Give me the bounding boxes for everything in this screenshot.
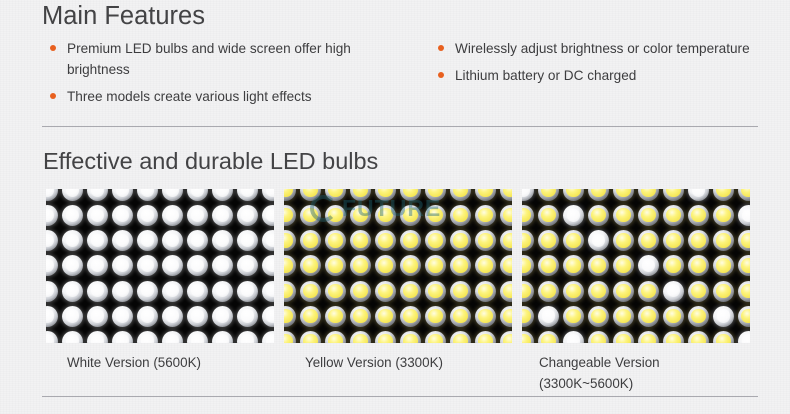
led-bulb-emitter [350,331,371,343]
led-bulb-emitter [87,255,108,276]
led-bulb [135,279,160,304]
led-bulb-emitter [538,189,559,201]
led-bulb [135,304,160,329]
led-bulb [586,228,611,253]
led-bulb [398,189,423,203]
led-bulb [561,304,586,329]
led-bulb-emitter [162,306,183,327]
led-bulb-emitter [538,230,559,251]
led-bulb-emitter [450,306,471,327]
led-bulb [586,279,611,304]
led-bulb [522,189,536,203]
led-bulb [85,189,110,203]
led-bulb [60,279,85,304]
led-bulb-emitter [87,331,108,343]
led-bulb-emitter [284,189,296,201]
led-bulb [284,253,298,278]
led-bulb [473,304,498,329]
led-bulb [284,189,298,203]
led-grid [522,189,750,343]
led-bulb-emitter [46,281,58,302]
led-bulb [498,304,512,329]
led-bulb-emitter [663,331,684,343]
led-bulb-emitter [638,281,659,302]
led-bulb [586,329,611,343]
led-bulb-emitter [638,205,659,226]
led-bulb-emitter [237,255,258,276]
led-bulb-emitter [713,230,734,251]
led-bulb-emitter [500,331,512,343]
led-bulb-emitter [375,189,396,201]
led-bulb [736,279,750,304]
led-bulb-emitter [87,306,108,327]
led-bulb-emitter [588,306,609,327]
led-bulb [373,189,398,203]
led-bulb-emitter [300,255,321,276]
led-bulb [736,189,750,203]
led-bulb-emitter [284,255,296,276]
led-bulb [423,228,448,253]
led-bulb-emitter [237,281,258,302]
led-bulb [636,253,661,278]
led-panel-captions: White Version (5600K) Yellow Version (33… [46,352,751,394]
led-bulb [260,304,274,329]
led-bulb [135,253,160,278]
led-bulb [46,279,60,304]
led-bulb-emitter [300,205,321,226]
led-bulb-emitter [137,306,158,327]
led-bulb [536,228,561,253]
list-item: Premium LED bulbs and wide screen offer … [50,38,385,80]
led-bulb-emitter [738,230,750,251]
led-bulb [473,189,498,203]
led-bulb-emitter [738,205,750,226]
led-bulb-emitter [325,306,346,327]
led-bulb [736,203,750,228]
led-bulb-emitter [375,281,396,302]
led-bulb-emitter [162,281,183,302]
led-bulb [473,203,498,228]
led-bulb-emitter [663,255,684,276]
led-bulb [284,329,298,343]
led-bulb-emitter [237,306,258,327]
led-bulb-emitter [212,255,233,276]
led-bulb-emitter [46,255,58,276]
led-bulb-emitter [400,230,421,251]
led-bulb-emitter [688,230,709,251]
led-bulb-emitter [475,281,496,302]
led-bulb [348,203,373,228]
bullet-dot-icon [50,93,56,99]
led-bulb-emitter [613,230,634,251]
led-bulb [398,329,423,343]
led-bulb-emitter [663,306,684,327]
led-bulb [711,189,736,203]
led-bulb [611,253,636,278]
led-bulb-emitter [46,189,58,201]
led-bulb-emitter [522,255,534,276]
led-bulb-emitter [538,331,559,343]
led-bulb [636,279,661,304]
caption-yellow-version: Yellow Version (3300K) [284,352,512,394]
led-bulb [661,279,686,304]
led-bulb [60,228,85,253]
led-bulb [448,253,473,278]
led-bulb-emitter [325,205,346,226]
led-bulb [85,253,110,278]
led-bulb-emitter [588,189,609,201]
led-bulb-emitter [500,205,512,226]
led-bulb [661,304,686,329]
led-bulb-emitter [350,230,371,251]
led-bulb-emitter [162,230,183,251]
led-bulb [46,304,60,329]
led-bulb [323,304,348,329]
led-bulb-emitter [638,331,659,343]
section-divider-top [42,126,758,127]
led-panel-changeable [522,189,750,343]
led-bulb [611,329,636,343]
led-bulb-emitter [713,306,734,327]
led-bulb [586,189,611,203]
led-bulb-emitter [325,281,346,302]
led-bulb-emitter [638,189,659,201]
led-bulb [323,279,348,304]
led-bulb-emitter [237,205,258,226]
led-bulb [473,228,498,253]
led-bulb-emitter [375,230,396,251]
led-bulb-emitter [137,189,158,201]
led-bulb [298,304,323,329]
features-bullet-columns: Premium LED bulbs and wide screen offer … [0,38,790,113]
led-bulb-emitter [638,255,659,276]
led-bulb [473,329,498,343]
led-bulb-emitter [450,281,471,302]
led-bulb-emitter [500,230,512,251]
led-bulb-emitter [187,205,208,226]
led-bulb-emitter [500,306,512,327]
led-bulb [448,203,473,228]
led-bulb [636,304,661,329]
led-bulb-emitter [475,189,496,201]
led-bulb-emitter [162,189,183,201]
led-bulb [398,304,423,329]
led-bulb-emitter [350,189,371,201]
led-bulb-emitter [425,306,446,327]
led-bulb-emitter [613,189,634,201]
led-bulb [736,228,750,253]
led-bulb [210,203,235,228]
led-bulb [46,329,60,343]
led-bulb [235,304,260,329]
led-bulb-emitter [87,189,108,201]
led-bulb-emitter [538,205,559,226]
led-bulb-emitter [300,331,321,343]
led-bulb-emitter [400,281,421,302]
led-bulb-emitter [137,230,158,251]
led-bulb [60,189,85,203]
led-bulb-emitter [400,306,421,327]
led-bulb [636,189,661,203]
led-bulb [210,279,235,304]
led-bulb-emitter [688,255,709,276]
led-bulb-emitter [46,306,58,327]
led-bulb [373,304,398,329]
led-bulb [185,253,210,278]
led-bulb [736,253,750,278]
led-bulb [185,279,210,304]
led-bulb-emitter [212,205,233,226]
led-bulb [498,329,512,343]
led-bulb-emitter [425,189,446,201]
led-bulb [323,329,348,343]
led-bulb-emitter [212,331,233,343]
led-bulb [284,279,298,304]
led-bulb [498,253,512,278]
bullet-dot-icon [50,45,56,51]
led-bulb [160,203,185,228]
led-bulb [373,228,398,253]
led-bulb-emitter [450,189,471,201]
section-divider-bottom [42,396,758,397]
led-bulb [160,189,185,203]
led-bulb-emitter [563,255,584,276]
led-bulb-emitter [237,331,258,343]
led-bulb-emitter [613,306,634,327]
led-bulb-emitter [112,230,133,251]
led-bulb-emitter [688,306,709,327]
bullet-dot-icon [438,45,444,51]
led-bulb [448,329,473,343]
led-bulb [235,189,260,203]
led-bulb-emitter [688,205,709,226]
section-title: Effective and durable LED bulbs [43,148,378,175]
led-bulb-emitter [262,331,274,343]
led-bulb [448,279,473,304]
led-bulb [160,304,185,329]
caption-white-version: White Version (5600K) [46,352,274,394]
led-bulb [110,304,135,329]
led-bulb [711,203,736,228]
led-bulb-emitter [375,205,396,226]
led-bulb [46,203,60,228]
features-left-column: Premium LED bulbs and wide screen offer … [0,38,385,113]
led-bulb [348,304,373,329]
led-bulb [661,253,686,278]
led-bulb [398,228,423,253]
feature-text: Lithium battery or DC charged [455,65,636,86]
led-bulb-emitter [325,230,346,251]
led-bulb [661,329,686,343]
led-bulb-emitter [663,281,684,302]
led-bulb-emitter [187,306,208,327]
led-bulb [561,329,586,343]
page-title: Main Features [42,2,205,31]
led-bulb-emitter [212,281,233,302]
led-bulb [561,189,586,203]
led-bulb [110,253,135,278]
led-bulb [298,228,323,253]
led-panel-white [46,189,274,343]
led-bulb-emitter [425,255,446,276]
led-bulb-emitter [450,331,471,343]
led-bulb [235,329,260,343]
feature-text: Premium LED bulbs and wide screen offer … [67,38,385,80]
led-bulb [561,279,586,304]
led-bulb-emitter [350,255,371,276]
led-bulb [373,203,398,228]
led-bulb-emitter [162,331,183,343]
led-bulb-emitter [137,205,158,226]
led-bulb-emitter [563,331,584,343]
led-bulb [536,189,561,203]
led-bulb-emitter [522,331,534,343]
led-bulb [522,279,536,304]
led-bulb-emitter [262,230,274,251]
led-bulb [235,279,260,304]
led-bulb-emitter [350,281,371,302]
led-bulb-emitter [563,306,584,327]
led-bulb [235,228,260,253]
led-bulb-emitter [588,205,609,226]
bullet-dot-icon [438,72,444,78]
led-bulb [536,203,561,228]
led-bulb [398,279,423,304]
led-bulb [323,228,348,253]
led-bulb-emitter [738,255,750,276]
led-bulb [210,304,235,329]
led-bulb [686,203,711,228]
led-bulb-emitter [300,230,321,251]
led-bulb-emitter [563,189,584,201]
led-bulb-emitter [112,189,133,201]
led-bulb-emitter [522,230,534,251]
list-item: Wirelessly adjust brightness or color te… [438,38,790,59]
led-bulb-emitter [284,306,296,327]
led-bulb-emitter [350,205,371,226]
led-bulb-emitter [162,205,183,226]
led-bulb [235,253,260,278]
list-item: Three models create various light effect… [50,86,385,107]
led-bulb [110,189,135,203]
led-bulb-emitter [522,281,534,302]
led-bulb-emitter [425,281,446,302]
led-bulb-emitter [738,331,750,343]
led-bulb [110,228,135,253]
led-bulb [135,329,160,343]
led-bulb [736,329,750,343]
led-bulb [135,189,160,203]
led-bulb [85,304,110,329]
led-bulb-emitter [284,281,296,302]
led-bulb-emitter [738,306,750,327]
led-bulb [561,253,586,278]
led-bulb-emitter [46,205,58,226]
led-bulb [636,228,661,253]
led-bulb [423,253,448,278]
led-bulb [686,189,711,203]
list-item: Lithium battery or DC charged [438,65,790,86]
led-bulb-emitter [563,230,584,251]
led-bulb-emitter [713,189,734,201]
led-grid [284,189,512,343]
led-bulb [373,329,398,343]
led-bulb [636,203,661,228]
led-bulb-emitter [475,230,496,251]
led-bulb-emitter [638,230,659,251]
led-bulb-emitter [500,281,512,302]
led-bulb-emitter [425,331,446,343]
led-bulb-emitter [688,189,709,201]
led-bulb [60,203,85,228]
led-bulb-emitter [87,281,108,302]
led-bulb-emitter [713,281,734,302]
led-bulb-emitter [450,230,471,251]
led-bulb-emitter [538,255,559,276]
led-bulb [686,304,711,329]
led-bulb [711,329,736,343]
led-bulb-emitter [375,255,396,276]
led-bulb-emitter [187,255,208,276]
led-bulb [60,304,85,329]
led-bulb [448,304,473,329]
led-bulb [110,279,135,304]
led-bulb [448,189,473,203]
led-bulb-emitter [284,230,296,251]
led-bulb [110,329,135,343]
led-bulb-emitter [187,281,208,302]
led-bulb [260,228,274,253]
led-bulb-emitter [588,281,609,302]
led-bulb [46,228,60,253]
led-bulb [185,203,210,228]
led-bulb [348,189,373,203]
caption-changeable-version: Changeable Version (3300K~5600K) [522,352,750,394]
led-bulb-emitter [400,331,421,343]
led-bulb [298,253,323,278]
led-bulb [561,203,586,228]
led-bulb-emitter [613,205,634,226]
led-bulb-emitter [137,255,158,276]
led-bulb [298,189,323,203]
led-bulb-emitter [475,205,496,226]
led-bulb-emitter [500,189,512,201]
led-bulb-emitter [237,230,258,251]
led-bulb-emitter [588,230,609,251]
led-bulb [260,279,274,304]
led-bulb-emitter [237,189,258,201]
led-bulb-emitter [62,189,83,201]
led-bulb [85,203,110,228]
led-bulb-emitter [187,331,208,343]
led-bulb [210,189,235,203]
led-panel-gallery: FUTURE [46,189,751,343]
led-bulb [348,329,373,343]
led-bulb-emitter [262,306,274,327]
led-bulb-emitter [522,189,534,201]
led-bulb-emitter [613,255,634,276]
led-bulb-emitter [663,205,684,226]
led-bulb [522,228,536,253]
led-bulb [736,304,750,329]
led-bulb-emitter [137,331,158,343]
led-bulb [536,304,561,329]
led-bulb [586,304,611,329]
led-bulb [373,253,398,278]
led-bulb [611,203,636,228]
led-bulb-emitter [688,331,709,343]
led-bulb [661,203,686,228]
